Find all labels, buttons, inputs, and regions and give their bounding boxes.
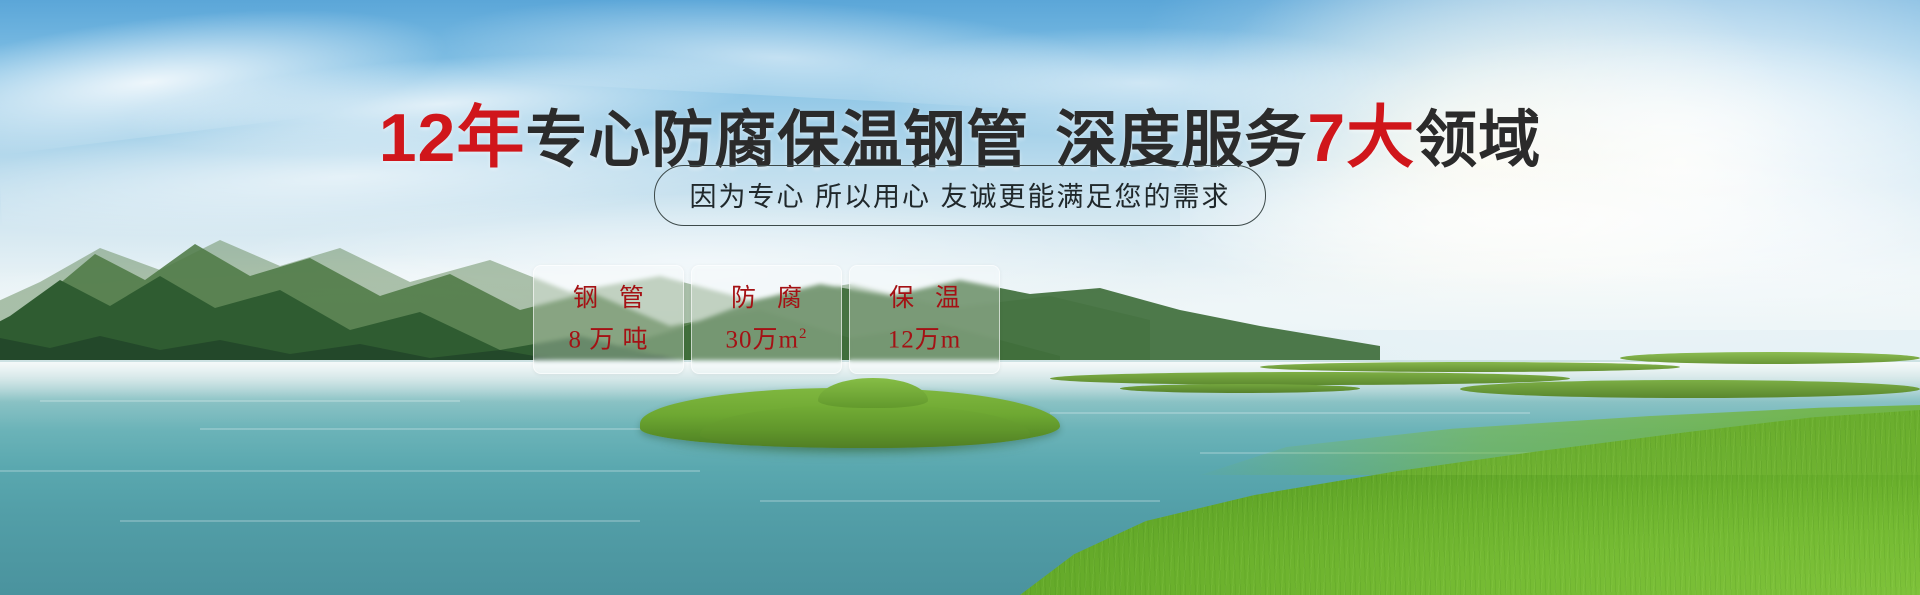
stat-card-insulation: 保 温 12万m: [849, 265, 1000, 374]
far-shore-strip: [1120, 384, 1360, 393]
stats-card-group: 钢 管 8 万 吨 防 腐 30万m2 保 温 12万m: [533, 265, 1000, 374]
stat-card-label: 防 腐: [724, 283, 809, 314]
stat-card-value-text: 8 万 吨: [568, 327, 648, 354]
stat-card-steel-pipe: 钢 管 8 万 吨: [533, 265, 684, 374]
stat-card-value: 30万m2: [726, 325, 808, 355]
stat-card-label: 保 温: [882, 283, 967, 314]
stat-card-anticorrosion: 防 腐 30万m2: [691, 265, 842, 374]
far-shore-strip: [1050, 372, 1570, 385]
subtitle-pill: 因为专心 所以用心 友诚更能满足您的需求: [654, 165, 1265, 226]
subtitle-container: 因为专心 所以用心 友诚更能满足您的需求: [0, 165, 1920, 226]
far-shore-strip: [1260, 362, 1680, 372]
hero-banner: 12年专心防腐保温钢管深度服务7大领域 因为专心 所以用心 友诚更能满足您的需求…: [0, 0, 1920, 595]
stat-card-label: 钢 管: [566, 283, 651, 314]
stat-card-value-text: 12万m: [888, 327, 961, 354]
stat-card-value-sup: 2: [799, 326, 808, 342]
far-shore-strip: [1620, 352, 1920, 364]
stat-card-value: 8 万 吨: [568, 325, 648, 355]
stat-card-value-text: 30万m: [726, 327, 799, 354]
far-shore-strip: [1460, 380, 1920, 398]
stat-card-value: 12万m: [888, 325, 961, 355]
